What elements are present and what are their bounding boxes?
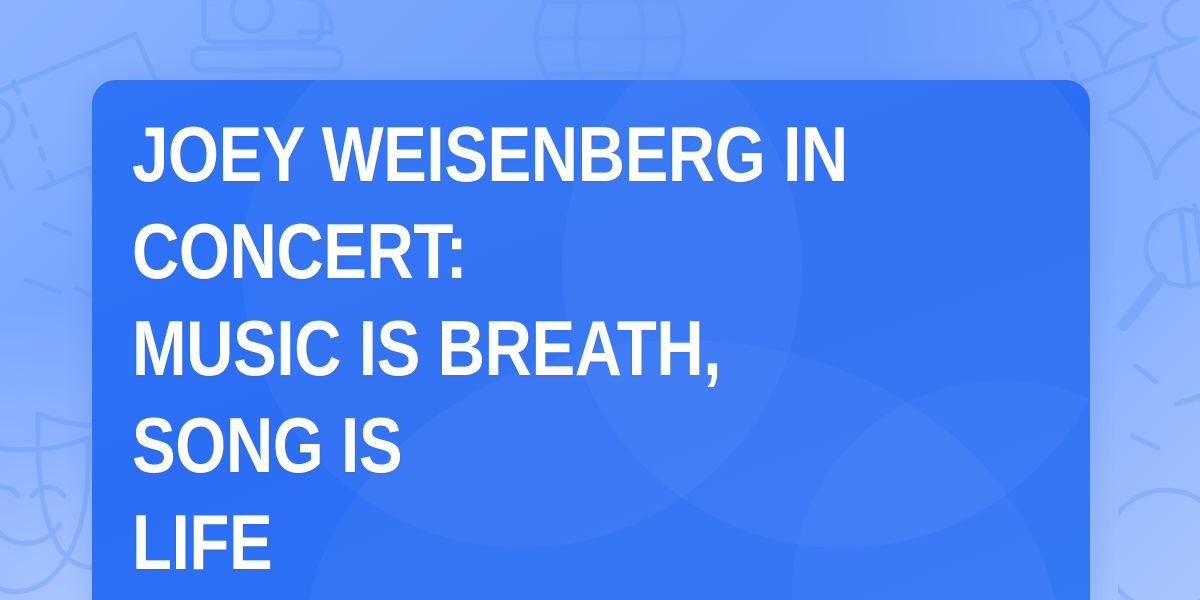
event-card-screen: JOEY WEISENBERG IN CONCERT: MUSIC IS BRE… — [0, 0, 1200, 600]
ticket-pair-icon — [986, 0, 1200, 88]
balloon-icon — [1118, 476, 1200, 600]
confetti-right-icon — [1120, 356, 1200, 476]
event-card[interactable]: JOEY WEISENBERG IN CONCERT: MUSIC IS BRE… — [92, 80, 1090, 600]
event-card-content: JOEY WEISENBERG IN CONCERT: MUSIC IS BRE… — [132, 106, 1050, 600]
event-title: JOEY WEISENBERG IN CONCERT: MUSIC IS BRE… — [132, 106, 903, 591]
microphone-icon — [1098, 200, 1200, 370]
